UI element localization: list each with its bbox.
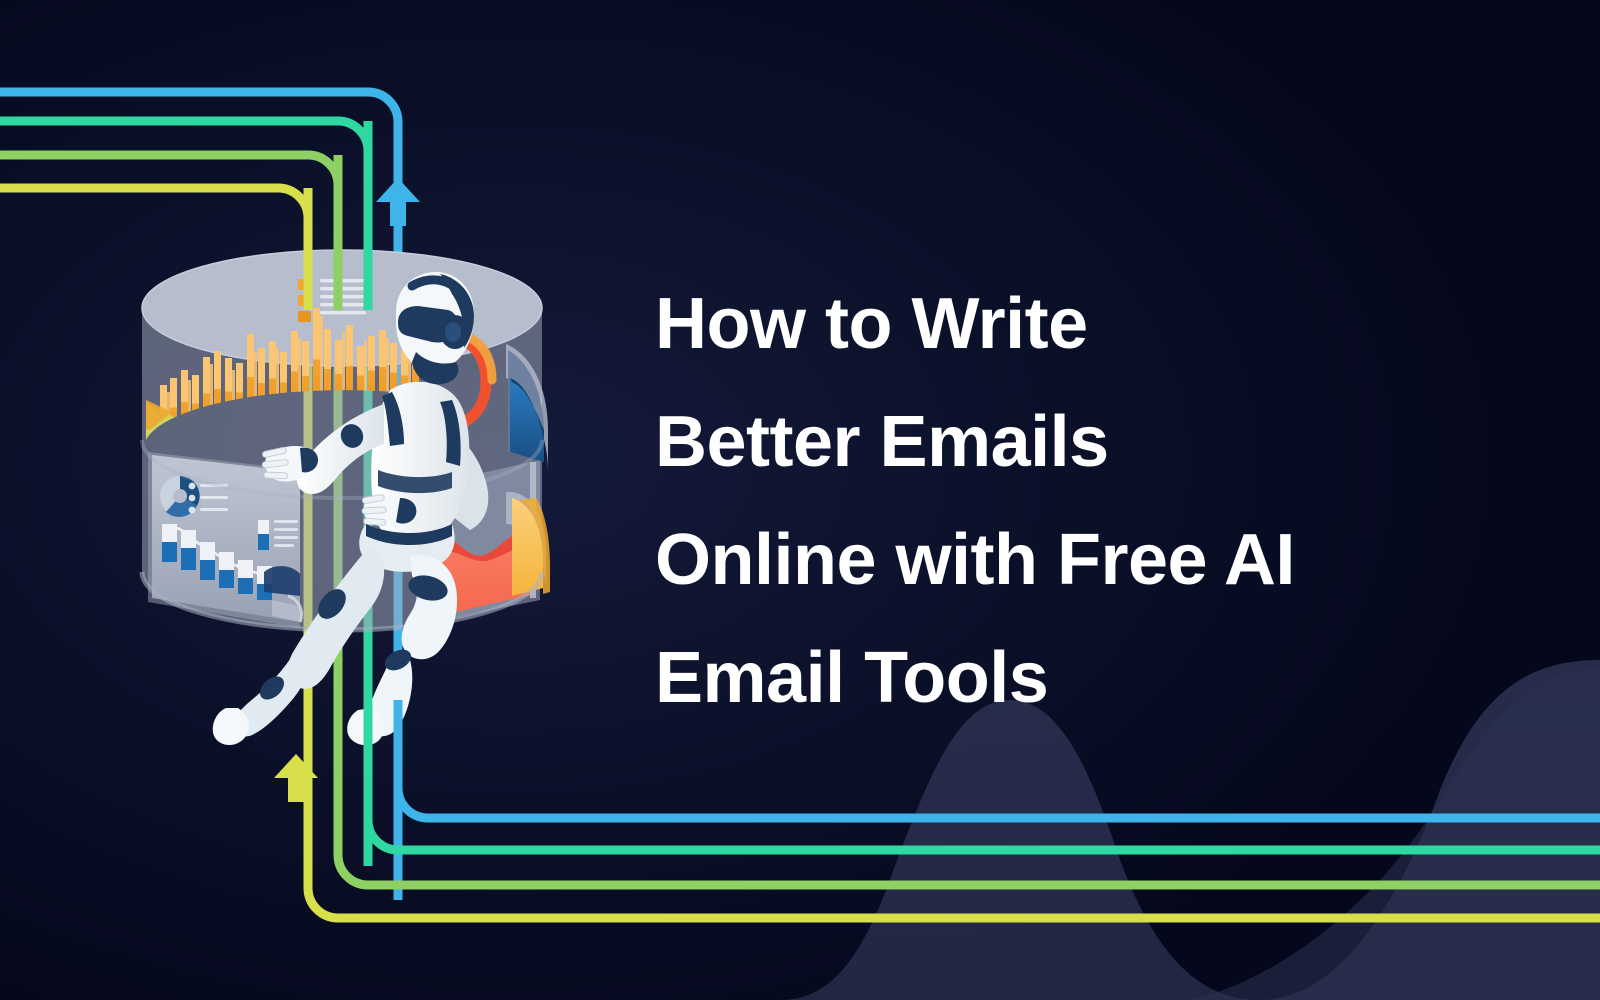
headline-line-3: Online with Free AI — [655, 501, 1475, 619]
trace-top-green — [0, 155, 338, 310]
trace-top-yellow — [0, 188, 308, 310]
trace-top-teal — [0, 121, 368, 310]
blog-header-banner: How to Write Better Emails Online with F… — [0, 0, 1600, 1000]
page-title: How to Write Better Emails Online with F… — [655, 265, 1475, 737]
headline-line-1: How to Write — [655, 265, 1475, 383]
arrow-up-blue-icon — [376, 178, 420, 226]
headline-line-4: Email Tools — [655, 619, 1475, 737]
headline-line-2: Better Emails — [655, 383, 1475, 501]
